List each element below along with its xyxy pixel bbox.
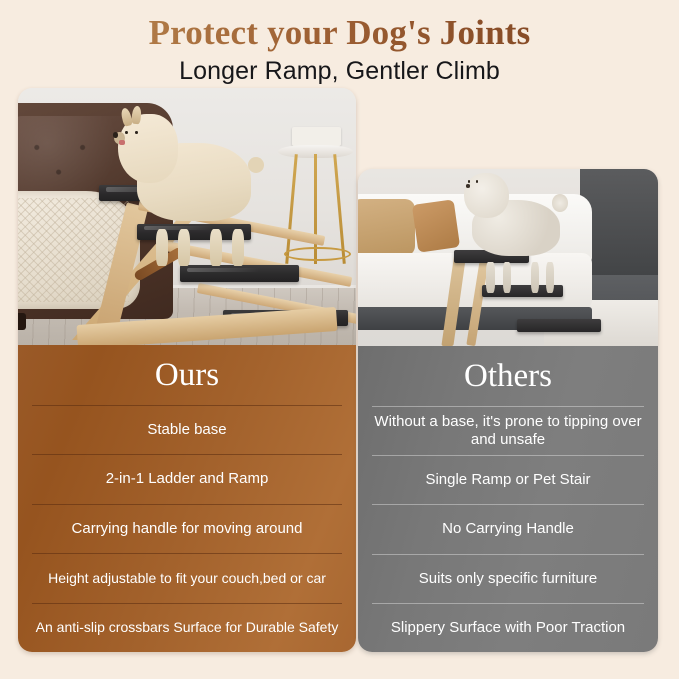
dog-eye [125, 131, 128, 134]
others-heading: Others [358, 346, 658, 406]
others-panel: Others Without a base, it's prone to tip… [358, 346, 658, 652]
table-top-box [292, 127, 341, 146]
others-card: Others Without a base, it's prone to tip… [358, 169, 658, 652]
dog-leg [156, 229, 168, 266]
dog-eye [476, 180, 479, 183]
ours-card: Ours Stable base 2-in-1 Ladder and Ramp … [18, 88, 356, 652]
ours-feature-list: Stable base 2-in-1 Ladder and Ramp Carry… [18, 406, 356, 652]
dog-tongue [119, 140, 124, 145]
list-item: Single Ramp or Pet Stair [358, 456, 658, 504]
infographic-page: Protect your Dog's Joints Longer Ramp, G… [0, 0, 679, 679]
dog-eye [468, 180, 471, 183]
list-item: Without a base, it's prone to tipping ov… [358, 407, 658, 455]
list-item: Suits only specific furniture [358, 555, 658, 603]
page-title: Protect your Dog's Joints [0, 0, 679, 53]
dog-head [118, 114, 177, 183]
dog-ear [131, 105, 142, 124]
others-product-photo [358, 169, 658, 346]
recliner-foot [18, 313, 26, 330]
list-item: Stable base [18, 406, 356, 454]
stair-tread [517, 319, 601, 331]
list-item: An anti-slip crossbars Surface for Durab… [18, 604, 356, 652]
dog-head [464, 173, 509, 219]
ramp-step [180, 265, 299, 281]
dog-tail [248, 157, 264, 173]
dog-leg [486, 262, 494, 294]
ours-heading: Ours [18, 345, 356, 405]
throw-pillow [412, 200, 460, 253]
ours-product-photo [18, 88, 356, 345]
dog-nose [113, 132, 118, 138]
tan-cushion [358, 199, 415, 256]
list-item: Slippery Surface with Poor Traction [358, 604, 658, 652]
others-feature-list: Without a base, it's prone to tipping ov… [358, 407, 658, 652]
ours-photo-scene [18, 88, 356, 345]
list-item: Carrying handle for moving around [18, 505, 356, 553]
dog-leg [503, 262, 511, 294]
dog-tail [552, 194, 568, 212]
french-bulldog [126, 109, 261, 243]
list-item: 2-in-1 Ladder and Ramp [18, 455, 356, 503]
ours-panel: Ours Stable base 2-in-1 Ladder and Ramp … [18, 345, 356, 652]
dog-eye [135, 131, 138, 134]
dog-leg [232, 229, 244, 266]
list-item: Height adjustable to fit your couch,bed … [18, 554, 356, 602]
page-subtitle: Longer Ramp, Gentler Climb [0, 53, 679, 86]
dog-leg [178, 229, 190, 266]
curly-white-dog [466, 173, 568, 272]
others-photo-scene [358, 169, 658, 346]
dog-leg [210, 229, 222, 266]
dog-leg [546, 262, 554, 294]
dog-leg [531, 262, 539, 294]
list-item: No Carrying Handle [358, 505, 658, 553]
header: Protect your Dog's Joints Longer Ramp, G… [0, 0, 679, 86]
dog-nose [466, 184, 470, 188]
